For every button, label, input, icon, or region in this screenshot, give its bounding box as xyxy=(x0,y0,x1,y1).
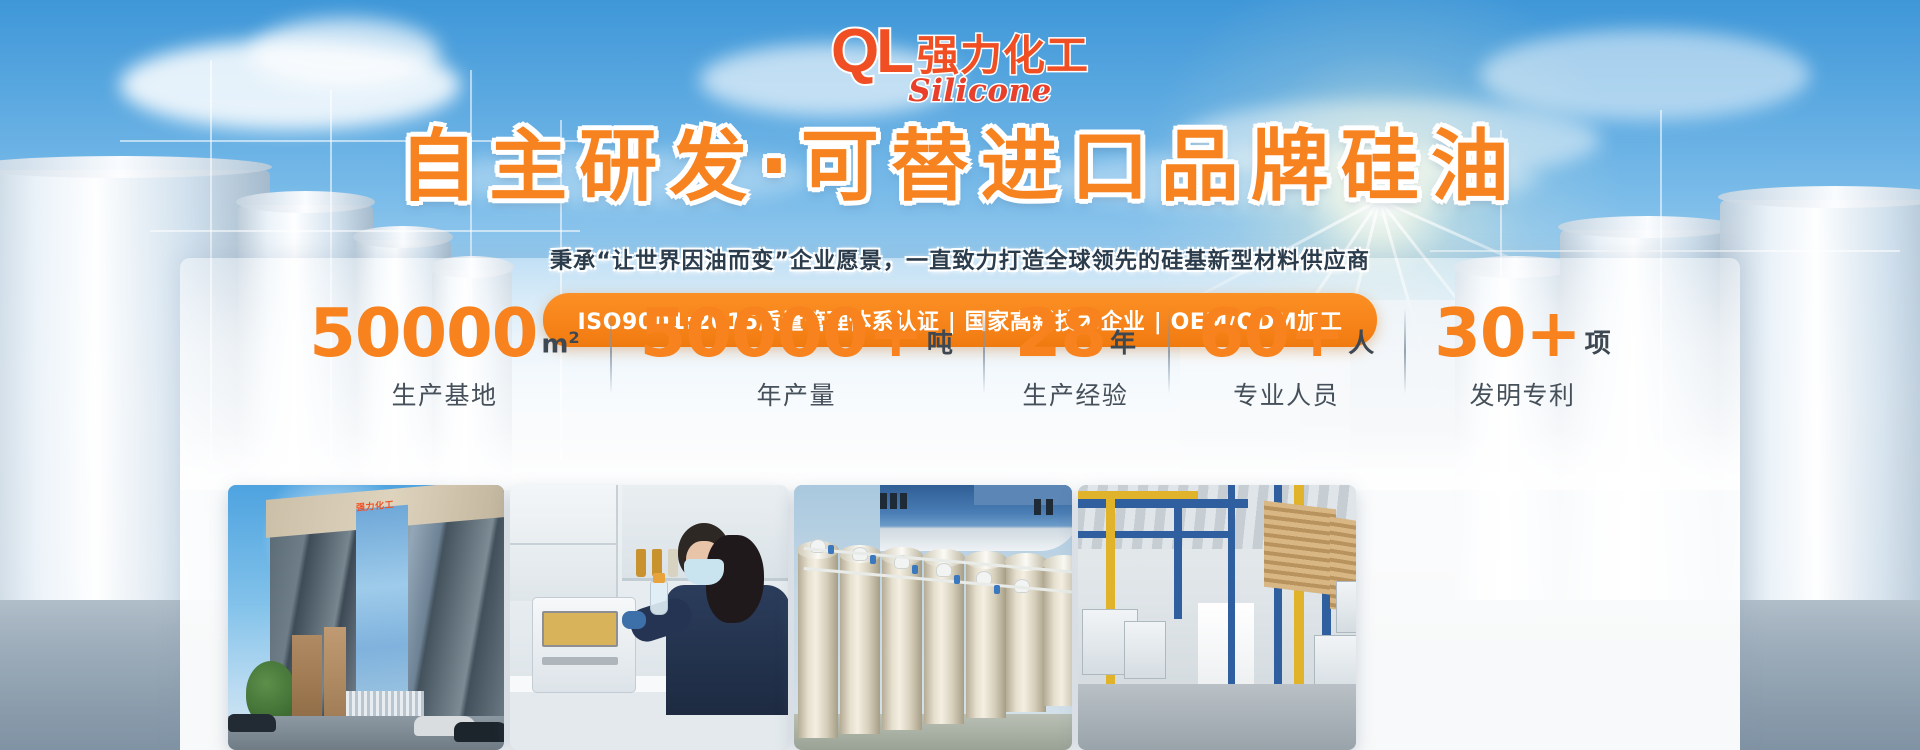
reactor-tank xyxy=(798,552,838,738)
instrument-display xyxy=(542,611,618,647)
tank-valve xyxy=(912,565,918,574)
reagent-bottle xyxy=(668,549,678,577)
photo-laboratory-technician[interactable] xyxy=(510,485,788,750)
stat-label: 生产基地 xyxy=(391,376,497,412)
reactor-tank xyxy=(882,558,922,730)
stat-value-line: 50000+ 吨 xyxy=(640,300,953,367)
stat-value-line: 28 年 xyxy=(1015,300,1136,367)
stat-item-experience: 28 年 生产经验 xyxy=(983,300,1168,412)
stats-row: 50000 m2 生产基地 50000+ 吨 年产量 28 年 生产经验 60+… xyxy=(195,300,1725,410)
daylight-opening xyxy=(1198,603,1254,689)
hero-subtitle: 秉承“让世界因油而变”企业愿景，一直致力打造全球领先的硅基新型材料供应商 xyxy=(0,243,1920,275)
photo-inner xyxy=(1078,485,1356,750)
stat-value-line: 60+ 人 xyxy=(1198,300,1374,367)
photo-office-building[interactable]: 强力化工 xyxy=(228,485,504,750)
steel-column xyxy=(1228,485,1235,685)
reagent-bottle xyxy=(636,549,646,577)
stat-number: 28 xyxy=(1015,300,1106,367)
tank-valve xyxy=(994,585,1000,594)
tank-cap xyxy=(936,563,952,577)
factory-roof-ridge xyxy=(974,485,1072,505)
face-mask xyxy=(684,559,724,585)
logo-mark-ql: QL xyxy=(831,23,911,82)
stat-item-staff: 60+ 人 专业人员 xyxy=(1168,300,1404,412)
roof-window xyxy=(880,493,887,509)
steel-beam xyxy=(1078,531,1228,538)
office-glass-curtain xyxy=(356,505,408,710)
pipe-line xyxy=(150,230,580,232)
photo-inner xyxy=(510,485,788,750)
sample-flask xyxy=(650,581,668,615)
stat-item-production-base: 50000 m2 生产基地 xyxy=(279,300,609,412)
tank-valve xyxy=(954,575,960,584)
photo-warehouse-storage[interactable] xyxy=(1078,485,1356,750)
steel-beam xyxy=(1078,499,1248,508)
reactor-tank xyxy=(840,556,880,734)
roof-window xyxy=(890,493,897,509)
tank-valve xyxy=(828,545,834,554)
stat-label: 生产经验 xyxy=(1022,376,1128,412)
stat-unit: 人 xyxy=(1348,323,1374,360)
stat-label: 发明专利 xyxy=(1469,376,1575,412)
stat-unit: 年 xyxy=(1110,323,1136,360)
photo-reactor-tank-farm[interactable] xyxy=(794,485,1072,750)
ibc-tote xyxy=(1336,581,1356,633)
photo-inner: 强力化工 xyxy=(228,485,504,750)
photo-gallery: 强力化工 xyxy=(228,485,1696,750)
warehouse-floor xyxy=(1078,684,1356,750)
panel-fade xyxy=(180,430,1740,490)
reactor-tank xyxy=(924,560,964,724)
company-logo[interactable]: QL 强力化工 Silicone xyxy=(0,22,1920,104)
photo-inner xyxy=(794,485,1072,750)
tank-valve xyxy=(870,555,876,564)
roof-window xyxy=(1034,499,1041,515)
roof-window xyxy=(1046,499,1053,515)
car xyxy=(454,722,504,742)
hero-headline: 自主研发·可替进口品牌硅油 xyxy=(0,104,1920,216)
stat-value-line: 50000 m2 xyxy=(309,300,579,367)
stat-item-annual-output: 50000+ 吨 年产量 xyxy=(610,300,983,412)
stat-number: 30+ xyxy=(1434,300,1580,367)
stat-label: 专业人员 xyxy=(1233,376,1339,412)
lab-glove xyxy=(622,611,646,629)
reactor-tank xyxy=(1044,566,1072,706)
hero-banner: QL 强力化工 Silicone 自主研发·可替进口品牌硅油 秉承“让世界因油而… xyxy=(0,0,1920,750)
stat-item-patents: 30+ 项 发明专利 xyxy=(1404,300,1640,412)
instrument-slot xyxy=(542,657,618,665)
stat-number: 50000 xyxy=(309,300,537,367)
car xyxy=(228,714,276,732)
stat-value-line: 30+ 项 xyxy=(1434,300,1610,367)
wooden-pallet-stack xyxy=(1264,501,1336,596)
stat-unit: m2 xyxy=(541,328,579,360)
stat-label: 年产量 xyxy=(756,376,836,412)
roof-window xyxy=(900,493,907,509)
stat-unit: 吨 xyxy=(927,323,953,360)
lab-cabinet-seam xyxy=(510,543,618,545)
steel-column xyxy=(1174,499,1182,619)
stat-number: 60+ xyxy=(1198,300,1344,367)
stat-number: 50000+ xyxy=(640,300,923,367)
flask-cap xyxy=(653,573,665,583)
stat-unit: 项 xyxy=(1585,323,1611,360)
yellow-rack-rail xyxy=(1078,491,1198,499)
ibc-tote xyxy=(1124,621,1166,679)
